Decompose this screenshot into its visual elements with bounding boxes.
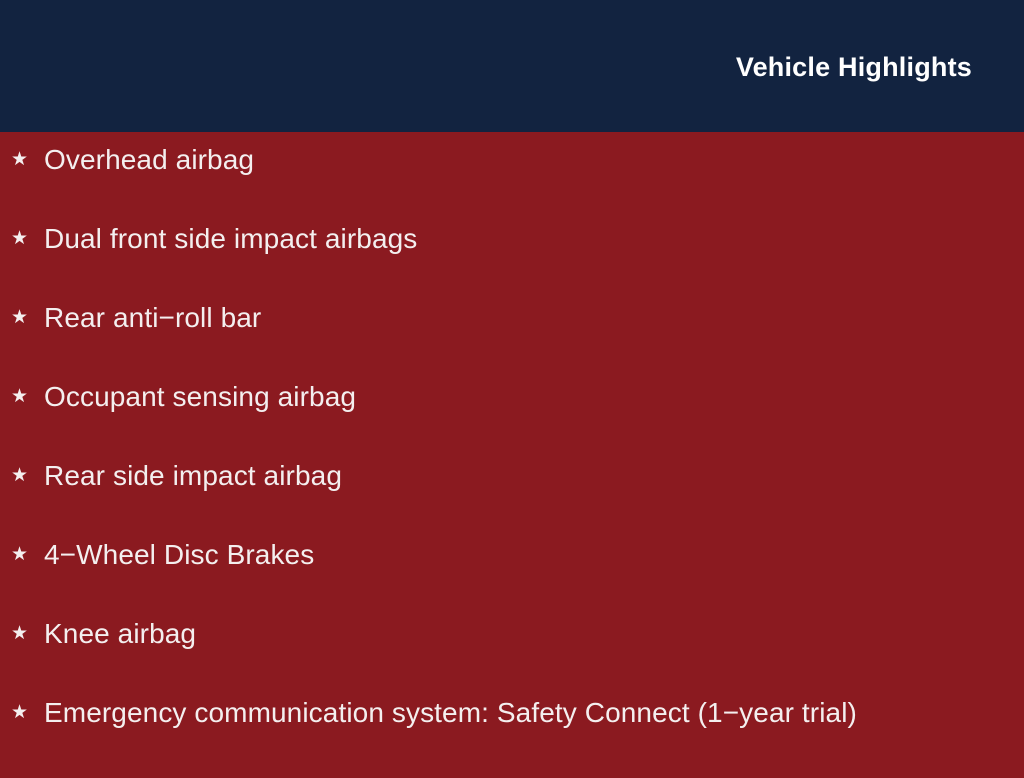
list-item: ★ Rear anti−roll bar <box>0 304 1024 383</box>
list-item-label: Knee airbag <box>44 620 196 648</box>
list-item: ★ 4−Wheel Disc Brakes <box>0 541 1024 620</box>
header-band: Vehicle Highlights <box>0 0 1024 132</box>
star-icon: ★ <box>11 624 44 643</box>
list-item-label: 4−Wheel Disc Brakes <box>44 541 314 569</box>
star-icon: ★ <box>11 545 44 564</box>
list-item-label: Overhead airbag <box>44 146 254 174</box>
star-icon: ★ <box>11 703 44 722</box>
list-item-label: Dual front side impact airbags <box>44 225 417 253</box>
star-icon: ★ <box>11 150 44 169</box>
list-item-label: Rear anti−roll bar <box>44 304 261 332</box>
list-item: ★ Occupant sensing airbag <box>0 383 1024 462</box>
list-item-label: Emergency communication system: Safety C… <box>44 699 857 727</box>
star-icon: ★ <box>11 229 44 248</box>
list-item-label: Rear side impact airbag <box>44 462 342 490</box>
vehicle-highlights-slide: Vehicle Highlights ★ Overhead airbag ★ D… <box>0 0 1024 768</box>
highlights-body: ★ Overhead airbag ★ Dual front side impa… <box>0 132 1024 778</box>
star-icon: ★ <box>11 308 44 327</box>
list-item: ★ Knee airbag <box>0 620 1024 699</box>
star-icon: ★ <box>11 387 44 406</box>
page-title: Vehicle Highlights <box>736 53 972 83</box>
list-item: ★ Rear side impact airbag <box>0 462 1024 541</box>
list-item: ★ Dual front side impact airbags <box>0 225 1024 304</box>
list-item-label: Occupant sensing airbag <box>44 383 356 411</box>
list-item: ★ Overhead airbag <box>0 146 1024 225</box>
star-icon: ★ <box>11 466 44 485</box>
vehicle-highlights-list: ★ Overhead airbag ★ Dual front side impa… <box>0 146 1024 778</box>
list-item: ★ Emergency communication system: Safety… <box>0 699 1024 778</box>
